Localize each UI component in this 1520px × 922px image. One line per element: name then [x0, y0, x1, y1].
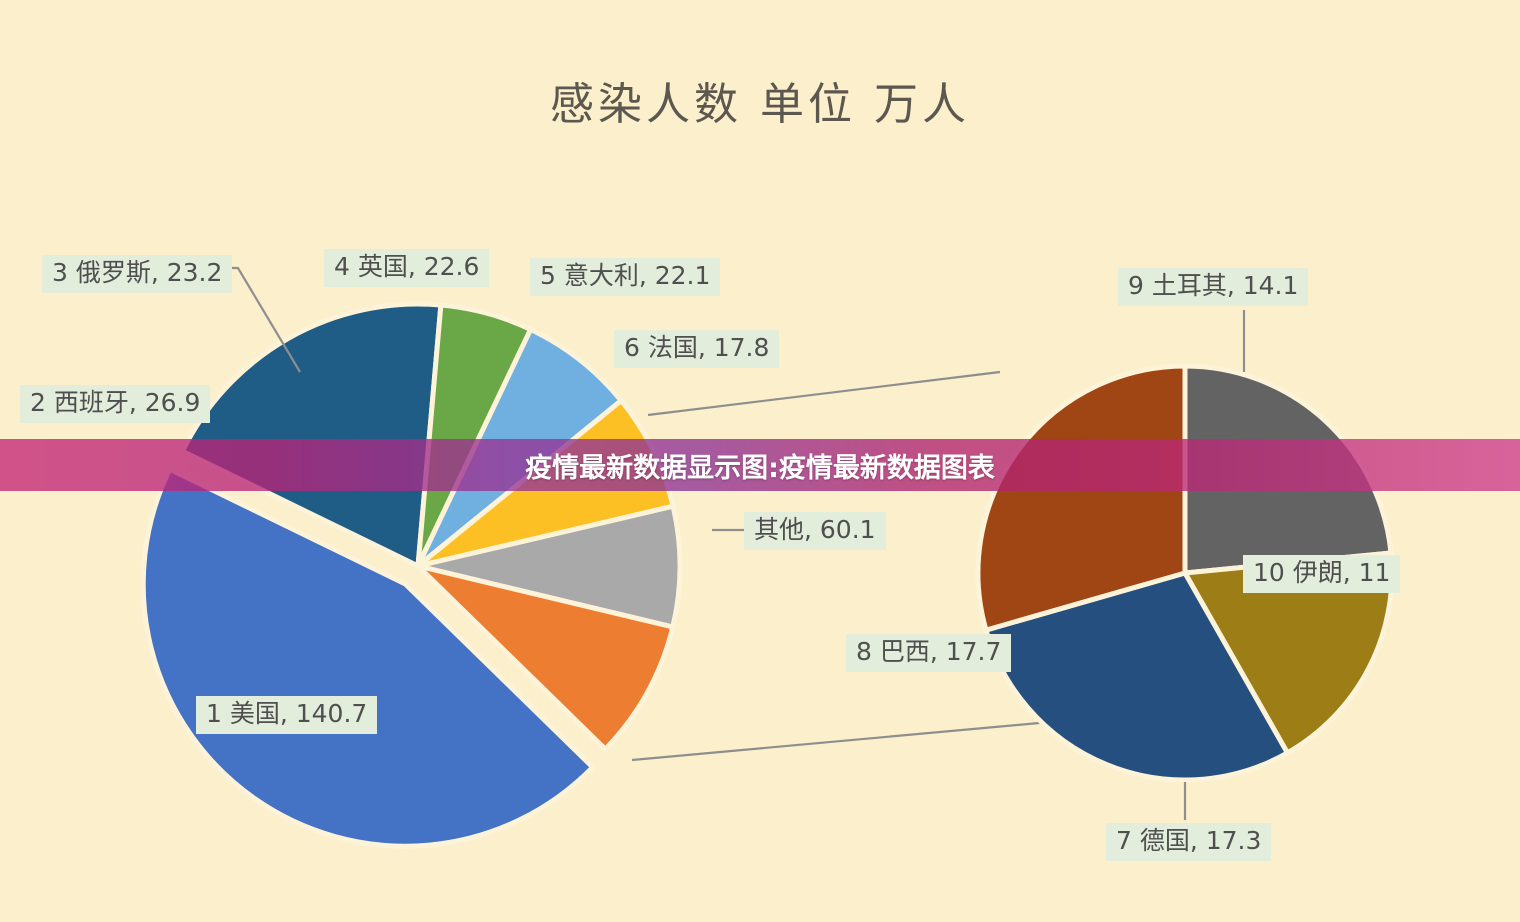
data-label-usa: 1 美国, 140.7 [196, 696, 377, 734]
connector-upper [648, 372, 1000, 415]
data-label-spain: 2 西班牙, 26.9 [20, 385, 210, 423]
chart-canvas: 感染人数 单位 万人 2 西班牙, 26.9 3 俄罗斯, 23.2 4 英国,… [0, 0, 1520, 922]
data-label-brazil: 8 巴西, 17.7 [846, 634, 1011, 672]
chart-title: 感染人数 单位 万人 [0, 68, 1520, 132]
connector-lower [632, 722, 1050, 760]
data-label-iran: 10 伊朗, 11 [1243, 555, 1400, 593]
data-label-germany: 7 德国, 17.3 [1106, 823, 1271, 861]
data-label-uk: 4 英国, 22.6 [324, 249, 489, 287]
watermark-banner: 疫情最新数据显示图:疫情最新数据图表 [0, 439, 1520, 491]
data-label-russia: 3 俄罗斯, 23.2 [42, 255, 232, 293]
data-label-france: 6 法国, 17.8 [614, 330, 779, 368]
data-label-other: 其他, 60.1 [744, 512, 886, 550]
watermark-banner-text: 疫情最新数据显示图:疫情最新数据图表 [525, 446, 995, 485]
data-label-italy: 5 意大利, 22.1 [530, 258, 720, 296]
main-pie-slices [143, 304, 680, 846]
data-label-turkey: 9 土耳其, 14.1 [1118, 268, 1308, 306]
